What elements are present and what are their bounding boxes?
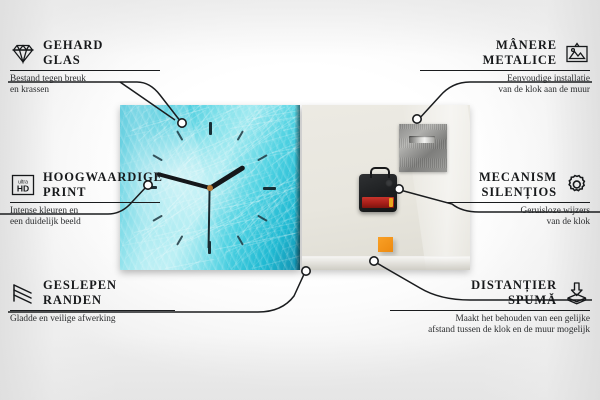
callout-head: ultra HD HOOGWAARDIGE PRINT (10, 170, 160, 199)
product-photo (120, 105, 470, 270)
callout-distantier-spuma: DISTANȚIER SPUMĂ Maakt het behouden van … (390, 278, 590, 337)
callout-head: MÂNERE METALICE (420, 38, 590, 67)
callout-description: Maakt het behouden van een gelijke afsta… (390, 314, 590, 337)
callout-gehard-glas: GEHARD GLAS Bestand tegen breuk en krass… (10, 38, 160, 97)
clock-tick-mark (152, 154, 163, 161)
clock-tick-mark (263, 186, 276, 189)
callout-rule (445, 202, 590, 203)
diamond-icon (10, 41, 36, 65)
clock-mechanism (359, 174, 397, 212)
battery (362, 197, 394, 208)
spacer-arrow-icon (564, 281, 590, 305)
callout-geslepen-randen: GESLEPEN RANDEN Gladde en veilige afwerk… (10, 278, 175, 325)
callout-hoogwaardige-print: ultra HD HOOGWAARDIGE PRINT Intense kleu… (10, 170, 160, 229)
callout-title: MECANISM SILENȚIOS (479, 170, 557, 199)
picture-frame-icon (564, 41, 590, 65)
callout-title: HOOGWAARDIGE PRINT (43, 170, 163, 199)
foam-spacer (378, 237, 393, 252)
clock-tick-mark (237, 235, 244, 246)
hand-center-cap (207, 185, 213, 191)
callout-mecanism-silentios: MECANISM SILENȚIOS Geruisloze wijzers va… (445, 170, 590, 229)
gear-icon (564, 173, 590, 197)
hanger-slot (409, 136, 435, 143)
mechanism-knob (385, 179, 393, 187)
clock-tick-mark (176, 235, 183, 246)
callout-description: Gladde en veilige afwerking (10, 314, 175, 325)
callout-head: GESLEPEN RANDEN (10, 278, 175, 307)
panel-bottom-edge (302, 256, 470, 270)
callout-title: GEHARD GLAS (43, 38, 103, 67)
clock-tick (210, 187, 276, 189)
diagonal-lines-icon (10, 281, 36, 305)
mechanism-hook (370, 167, 390, 178)
svg-text:HD: HD (17, 183, 29, 193)
callout-description: Intense kleuren en een duidelijk beeld (10, 206, 160, 229)
callout-rule (420, 70, 590, 71)
callout-description: Bestand tegen breuk en krassen (10, 74, 160, 97)
clock-tick-mark (209, 122, 212, 135)
callout-head: GEHARD GLAS (10, 38, 160, 67)
metal-hanger-plate (399, 124, 447, 172)
callout-manere-metalice: MÂNERE METALICE Eenvoudige installatie v… (420, 38, 590, 97)
callout-rule (10, 202, 160, 203)
callout-rule (10, 70, 160, 71)
clock-tick-mark (257, 154, 268, 161)
clock-tick-mark (257, 214, 268, 221)
callout-head: MECANISM SILENȚIOS (445, 170, 590, 199)
infographic-canvas: GEHARD GLAS Bestand tegen breuk en krass… (0, 0, 600, 400)
callout-title: GESLEPEN RANDEN (43, 278, 117, 307)
callout-title: DISTANȚIER SPUMĂ (471, 278, 557, 307)
callout-description: Geruisloze wijzers van de klok (445, 206, 590, 229)
ultra-hd-icon: ultra HD (10, 173, 36, 197)
callout-title: MÂNERE METALICE (483, 38, 557, 67)
clock-tick-mark (237, 130, 244, 141)
callout-description: Eenvoudige installatie van de klok aan d… (420, 74, 590, 97)
clock-tick-mark (176, 130, 183, 141)
callout-rule (10, 310, 175, 311)
callout-rule (390, 310, 590, 311)
panel-right-edge (295, 105, 300, 270)
callout-head: DISTANȚIER SPUMĂ (390, 278, 590, 307)
clock-tick (209, 122, 211, 188)
